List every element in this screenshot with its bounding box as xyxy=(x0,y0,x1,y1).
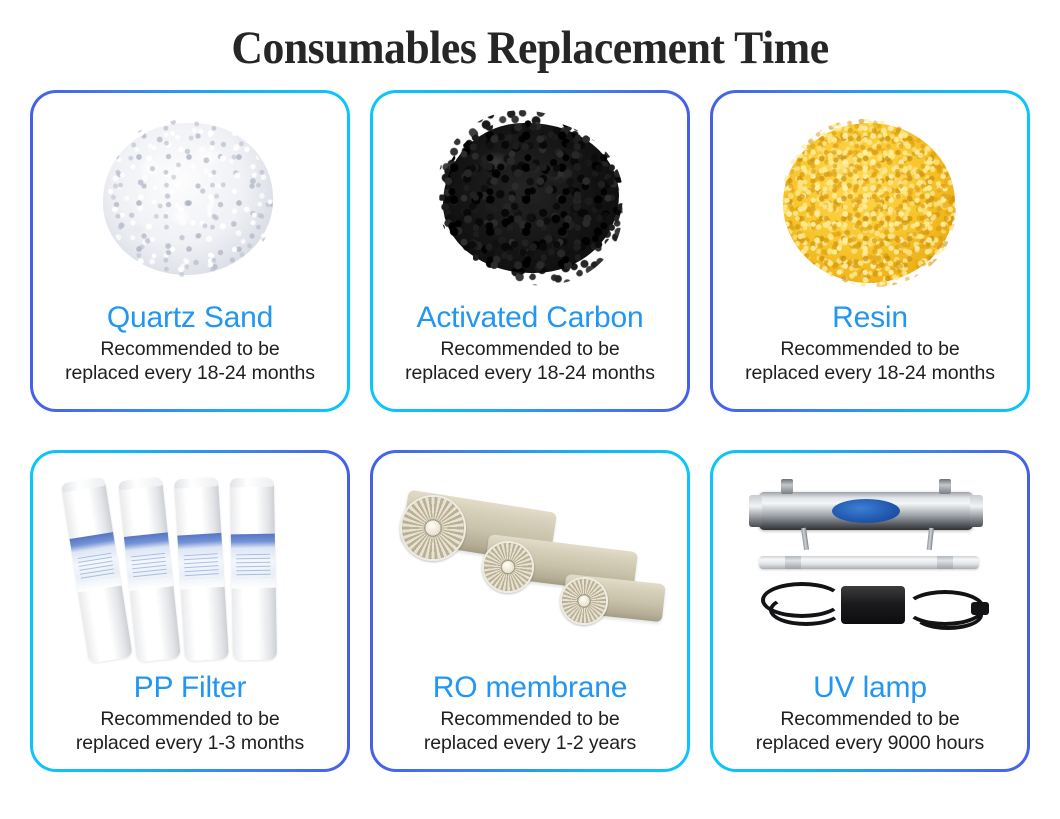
card-desc-line1-activated-carbon: Recommended to be xyxy=(373,337,687,361)
card-pp-filter[interactable]: PP Filter Recommended to be replaced eve… xyxy=(30,450,350,772)
card-desc-line1-pp-filter: Recommended to be xyxy=(33,707,347,731)
ro-membrane-image-area xyxy=(373,453,687,670)
card-resin[interactable]: Resin Recommended to be replaced every 1… xyxy=(710,90,1030,412)
card-quartz-sand[interactable]: Quartz Sand Recommended to be replaced e… xyxy=(30,90,350,412)
card-desc-line1-uv-lamp: Recommended to be xyxy=(713,707,1027,731)
ion-exchange-resin-pile-image xyxy=(775,117,965,282)
card-ro-membrane[interactable]: RO membrane Recommended to be replaced e… xyxy=(370,450,690,772)
consumables-card-grid: Quartz Sand Recommended to be replaced e… xyxy=(0,90,1060,772)
card-title-uv-lamp: UV lamp xyxy=(713,670,1027,706)
ro-membrane-elements-image xyxy=(400,487,660,637)
pp-filter-image-area xyxy=(33,453,347,670)
card-desc-line2-activated-carbon: replaced every 18-24 months xyxy=(373,361,687,385)
resin-image-area xyxy=(713,93,1027,300)
card-desc-line1-ro-membrane: Recommended to be xyxy=(373,707,687,731)
card-desc-line2-pp-filter: replaced every 1-3 months xyxy=(33,731,347,755)
activated-carbon-pile-image xyxy=(435,117,625,282)
card-desc-line2-uv-lamp: replaced every 9000 hours xyxy=(713,731,1027,755)
card-desc-line1-quartz-sand: Recommended to be xyxy=(33,337,347,361)
pp-filter-cartridges-image xyxy=(83,462,298,662)
card-title-ro-membrane: RO membrane xyxy=(373,670,687,706)
quartz-sand-image-area xyxy=(33,93,347,300)
card-title-resin: Resin xyxy=(713,300,1027,336)
card-desc-line2-quartz-sand: replaced every 18-24 months xyxy=(33,361,347,385)
card-desc-line1-resin: Recommended to be xyxy=(713,337,1027,361)
card-title-activated-carbon: Activated Carbon xyxy=(373,300,687,336)
card-title-pp-filter: PP Filter xyxy=(33,670,347,706)
activated-carbon-image-area xyxy=(373,93,687,300)
consumables-replacement-page: Consumables Replacement Time Quartz Sand… xyxy=(0,0,1060,819)
uv-lamp-sterilizer-image xyxy=(745,482,995,642)
card-title-quartz-sand: Quartz Sand xyxy=(33,300,347,336)
card-activated-carbon[interactable]: Activated Carbon Recommended to be repla… xyxy=(370,90,690,412)
card-desc-line2-resin: replaced every 18-24 months xyxy=(713,361,1027,385)
quartz-sand-pile-image xyxy=(95,117,285,282)
card-desc-line2-ro-membrane: replaced every 1-2 years xyxy=(373,731,687,755)
card-uv-lamp[interactable]: UV lamp Recommended to be replaced every… xyxy=(710,450,1030,772)
page-title: Consumables Replacement Time xyxy=(37,0,1023,90)
uv-lamp-image-area xyxy=(713,453,1027,670)
